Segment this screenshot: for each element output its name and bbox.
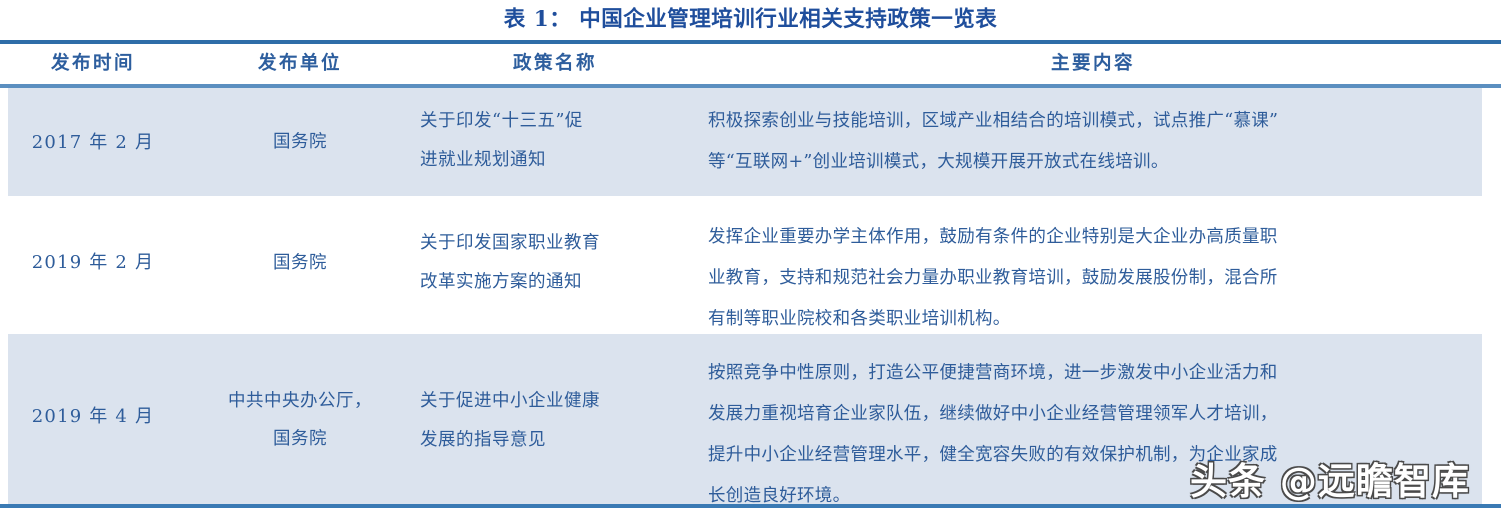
policy-table-figure: 表 1： 中国企业管理培训行业相关支持政策一览表 发布时间 发布单位 政策名称 … <box>0 0 1501 517</box>
cell-content-line: 发挥企业重要办学主体作用，鼓励有条件的企业特别是大企业办高质量职 <box>708 217 1478 258</box>
cell-org: 国务院 <box>200 123 400 161</box>
table-bottom-rule <box>0 504 1501 508</box>
table-top-rule <box>0 40 1501 44</box>
table-row: 2019 年 2 月 国务院 关于印发国家职业教育 改革实施方案的通知 发挥企业… <box>0 196 1501 334</box>
cell-content-line: 长创造良好环境。 <box>708 476 1478 517</box>
cell-content-line: 按照竞争中性原则，打造公平便捷营商环境，进一步激发中小企业活力和 <box>708 353 1478 394</box>
cell-org-line: 国务院 <box>200 123 400 161</box>
cell-date: 2017 年 2 月 <box>8 128 178 154</box>
column-header-org: 发布单位 <box>200 44 400 84</box>
cell-content: 积极探索创业与技能培训，区域产业相结合的培训模式，试点推广“慕课” 等“互联网+… <box>708 101 1478 183</box>
cell-policy-line: 关于促进中小企业健康 <box>420 382 690 421</box>
cell-content-line: 等“互联网+”创业培训模式，大规模开展开放式在线培训。 <box>708 142 1478 183</box>
table-title: 表 1： 中国企业管理培训行业相关支持政策一览表 <box>0 2 1501 38</box>
cell-policy-line: 改革实施方案的通知 <box>420 263 690 302</box>
cell-content: 按照竞争中性原则，打造公平便捷营商环境，进一步激发中小企业活力和 发展力重视培育… <box>708 353 1478 517</box>
cell-policy-line: 关于印发国家职业教育 <box>420 224 690 263</box>
cell-policy-line: 发展的指导意见 <box>420 421 690 460</box>
cell-content-line: 积极探索创业与技能培训，区域产业相结合的培训模式，试点推广“慕课” <box>708 101 1478 142</box>
cell-org-line: 国务院 <box>200 420 400 458</box>
column-header-policy: 政策名称 <box>420 44 690 84</box>
cell-org-line: 国务院 <box>200 244 400 282</box>
cell-date: 2019 年 2 月 <box>8 248 178 274</box>
cell-policy-line: 关于印发“十三五”促 <box>420 102 690 141</box>
cell-policy-line: 进就业规划通知 <box>420 141 690 180</box>
cell-org-line: 中共中央办公厅， <box>200 382 400 420</box>
table-header-row: 发布时间 发布单位 政策名称 主要内容 <box>0 44 1501 84</box>
cell-org: 中共中央办公厅， 国务院 <box>200 382 400 458</box>
cell-content-line: 提升中小企业经营管理水平，健全宽容失败的有效保护机制，为企业家成 <box>708 435 1478 476</box>
table-header-rule <box>0 84 1501 88</box>
cell-policy: 关于印发“十三五”促 进就业规划通知 <box>420 102 690 180</box>
table-row: 2017 年 2 月 国务院 关于印发“十三五”促 进就业规划通知 积极探索创业… <box>0 88 1501 196</box>
cell-content-line: 发展力重视培育企业家队伍，继续做好中小企业经营管理领军人才培训， <box>708 394 1478 435</box>
table-row: 2019 年 4 月 中共中央办公厅， 国务院 关于促进中小企业健康 发展的指导… <box>0 334 1501 504</box>
column-header-content: 主要内容 <box>708 44 1478 84</box>
cell-policy: 关于印发国家职业教育 改革实施方案的通知 <box>420 224 690 302</box>
column-header-date: 发布时间 <box>8 44 178 84</box>
cell-content-line: 业教育，支持和规范社会力量办职业教育培训，鼓励发展股份制，混合所 <box>708 258 1478 299</box>
cell-content: 发挥企业重要办学主体作用，鼓励有条件的企业特别是大企业办高质量职 业教育，支持和… <box>708 217 1478 340</box>
cell-date: 2019 年 4 月 <box>8 402 178 428</box>
cell-policy: 关于促进中小企业健康 发展的指导意见 <box>420 382 690 460</box>
cell-org: 国务院 <box>200 244 400 282</box>
